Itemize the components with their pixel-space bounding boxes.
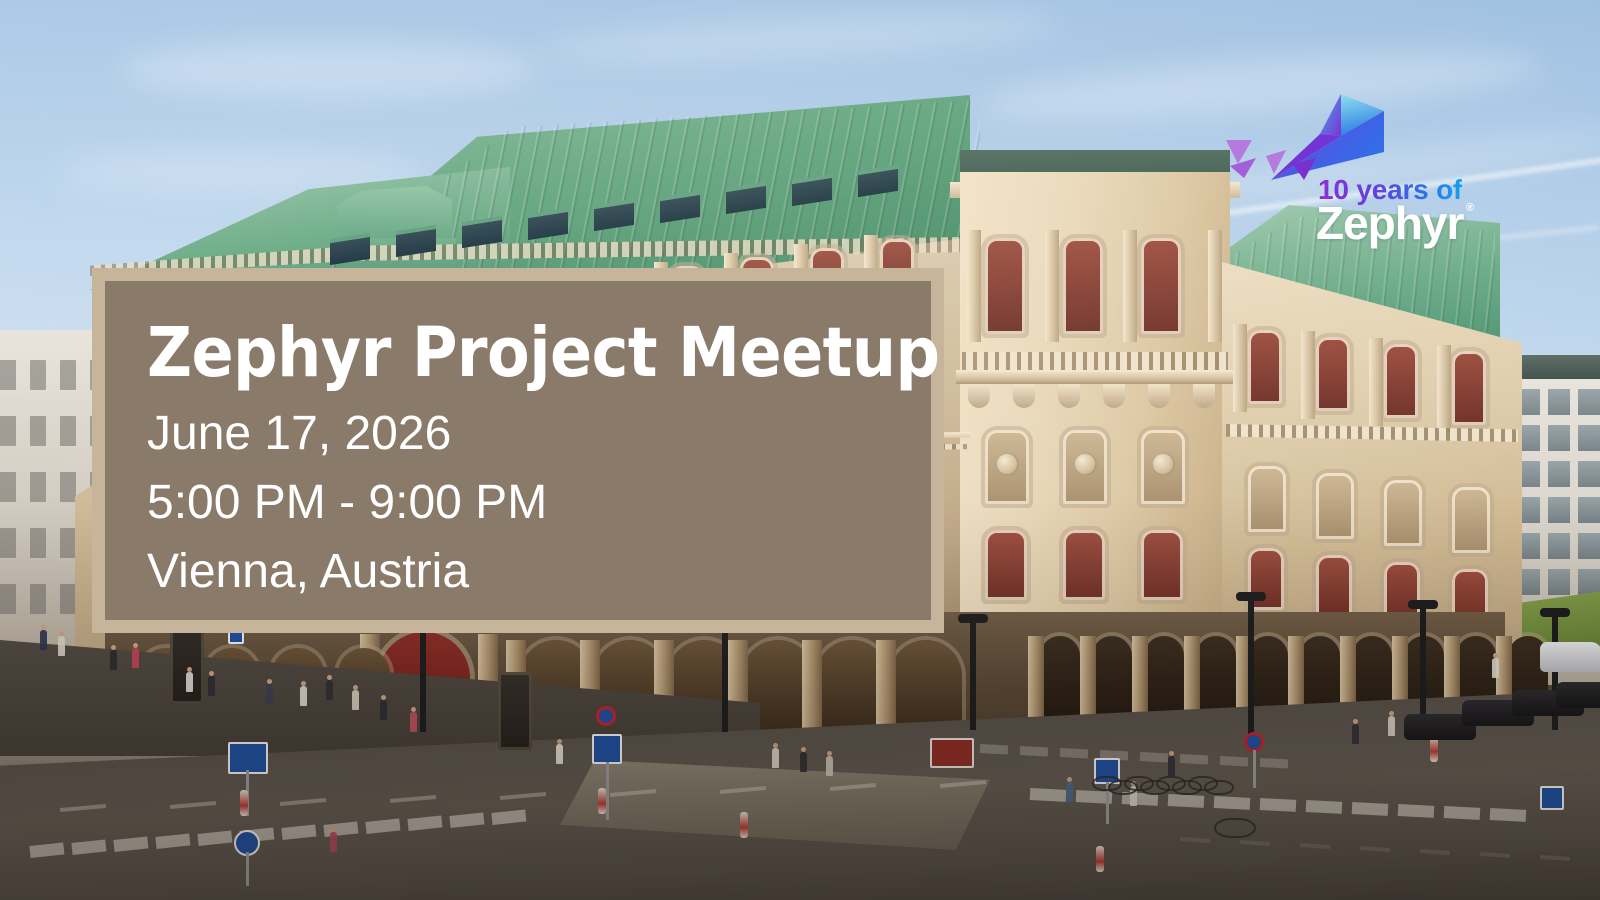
bollard — [740, 812, 748, 838]
pedestrian-head — [327, 675, 332, 680]
pedestrian — [1066, 782, 1073, 802]
pedestrian — [826, 756, 833, 776]
info-panel — [930, 738, 974, 768]
sign-pole — [606, 762, 609, 820]
pedestrian — [186, 672, 193, 692]
crosswalk-stripe — [1180, 754, 1208, 764]
no-parking-sign — [1244, 732, 1264, 752]
event-date: June 17, 2026 — [147, 410, 931, 458]
arched-window — [1063, 238, 1103, 334]
crosswalk-stripe — [1030, 788, 1067, 802]
pedestrian — [266, 684, 273, 704]
arched-window — [1452, 351, 1486, 425]
arched-window — [1141, 238, 1181, 334]
pilaster — [1123, 230, 1137, 342]
pedestrian — [352, 690, 359, 710]
crosswalk-stripe — [1398, 804, 1435, 818]
arched-window — [985, 530, 1027, 600]
crosswalk-stripe — [1260, 798, 1297, 812]
pedestrian — [208, 676, 215, 696]
crosswalk-stripe — [1020, 746, 1048, 756]
registered-trademark-icon: ® — [1466, 202, 1474, 214]
blind-arch — [1452, 487, 1490, 553]
street-lamp-head — [1540, 608, 1570, 617]
blind-arch — [1248, 466, 1286, 532]
corbel — [1193, 384, 1215, 408]
logo-wordmark: Zephyr — [1316, 196, 1463, 250]
pedestrian — [410, 712, 417, 732]
bicycle — [1214, 818, 1256, 838]
pedestrian-head — [267, 679, 272, 684]
street-lamp-head — [1408, 600, 1438, 609]
pedestrian-head — [209, 671, 214, 676]
pedestrian — [1492, 658, 1499, 678]
pedestrian-crossing-sign — [1540, 786, 1564, 810]
poster-canvas: Zephyr Project Meetup June 17, 2026 5:00… — [0, 0, 1600, 900]
pedestrian-head — [411, 707, 416, 712]
corbel — [1103, 384, 1125, 408]
crosswalk-stripe — [1260, 758, 1288, 768]
pedestrian — [110, 650, 117, 670]
advertising-column — [498, 672, 532, 750]
street-lamp-post — [1248, 596, 1254, 736]
zephyr-anniversary-logo: 10 years of Zephyr ® — [1208, 78, 1496, 240]
pilaster — [1208, 230, 1222, 342]
pedestrian-head — [1169, 751, 1174, 756]
pedestrian-head — [187, 667, 192, 672]
pedestrian — [300, 686, 307, 706]
balcony-slab — [956, 370, 1234, 384]
event-title: Zephyr Project Meetup — [147, 319, 931, 388]
street-lamp-post — [970, 618, 976, 730]
pilaster — [967, 230, 981, 342]
bollard — [598, 788, 606, 814]
arched-window — [1384, 344, 1418, 418]
pedestrian — [326, 680, 333, 700]
pedestrian — [1168, 756, 1175, 776]
pedestrian-head — [133, 643, 138, 648]
pedestrian-head — [1067, 777, 1072, 782]
pedestrian-head — [381, 695, 386, 700]
crosswalk-stripe — [1168, 794, 1205, 808]
street-lamp-post — [1420, 604, 1426, 732]
pedestrian-head — [301, 681, 306, 686]
arched-window — [985, 238, 1025, 334]
crosswalk-stripe — [1490, 808, 1527, 822]
blind-arch — [1384, 480, 1422, 546]
crosswalk-stripe — [1444, 806, 1481, 820]
pedestrian — [556, 744, 563, 764]
arched-window — [1316, 555, 1352, 617]
pedestrian — [772, 748, 779, 768]
pedestrian — [132, 648, 139, 668]
rose-window — [995, 452, 1019, 476]
pilaster — [1301, 331, 1315, 419]
corbel — [1013, 384, 1035, 408]
no-entry-sign — [596, 706, 616, 726]
rose-window — [1151, 452, 1175, 476]
street-lamp-head — [958, 614, 988, 623]
event-time: 5:00 PM - 9:00 PM — [147, 479, 931, 527]
crosswalk-stripe — [1352, 802, 1389, 816]
pilaster — [1369, 338, 1383, 426]
pedestrian — [330, 832, 337, 852]
blind-arch — [1316, 473, 1354, 539]
pilaster — [1233, 324, 1247, 412]
bollard — [240, 790, 248, 816]
pedestrian — [1352, 724, 1359, 744]
pedestrian-head — [1493, 653, 1498, 658]
arched-window — [1316, 337, 1350, 411]
pedestrian-head — [353, 685, 358, 690]
pedestrian — [58, 636, 65, 656]
sign-pole — [1253, 750, 1256, 788]
pedestrian-head — [773, 743, 778, 748]
pedestrian-head — [59, 631, 64, 636]
pedestrian-head — [827, 751, 832, 756]
crosswalk-stripe — [1214, 796, 1251, 810]
parked-car — [1556, 682, 1600, 708]
corbel — [1058, 384, 1080, 408]
pedestrian-head — [557, 739, 562, 744]
arched-window — [1063, 530, 1105, 600]
parked-van — [1540, 642, 1600, 672]
parked-bicycle — [1204, 780, 1234, 795]
balcony-balustrade — [962, 352, 1228, 370]
crosswalk-stripe — [980, 744, 1008, 754]
crosswalk-stripe — [1140, 752, 1168, 762]
crosswalk-stripe — [1220, 756, 1248, 766]
event-info-card: Zephyr Project Meetup June 17, 2026 5:00… — [92, 268, 944, 633]
pedestrian — [1388, 716, 1395, 736]
pedestrian — [40, 630, 47, 650]
arched-window — [1248, 330, 1282, 404]
corbel — [968, 384, 990, 408]
street-lamp-head — [1236, 592, 1266, 601]
bollard — [1096, 846, 1104, 872]
corbel — [1148, 384, 1170, 408]
arched-window — [1141, 530, 1183, 600]
pedestrian-head — [111, 645, 116, 650]
pedestrian-head — [801, 747, 806, 752]
pedestrian-head — [1353, 719, 1358, 724]
pilaster — [1045, 230, 1059, 342]
crosswalk-stripe — [1306, 800, 1343, 814]
rose-window — [1073, 452, 1097, 476]
pedestrian — [800, 752, 807, 772]
pedestrian-head — [331, 827, 336, 832]
sign-pole — [246, 852, 249, 886]
pedestrian-head — [1389, 711, 1394, 716]
event-info-card-inner: Zephyr Project Meetup June 17, 2026 5:00… — [105, 281, 931, 620]
event-location: Vienna, Austria — [147, 548, 931, 596]
crosswalk-stripe — [1060, 748, 1088, 758]
pedestrian-head — [41, 625, 46, 630]
pedestrian — [380, 700, 387, 720]
pedestrian-crossing-sign — [592, 734, 622, 764]
pilaster — [1437, 345, 1451, 433]
